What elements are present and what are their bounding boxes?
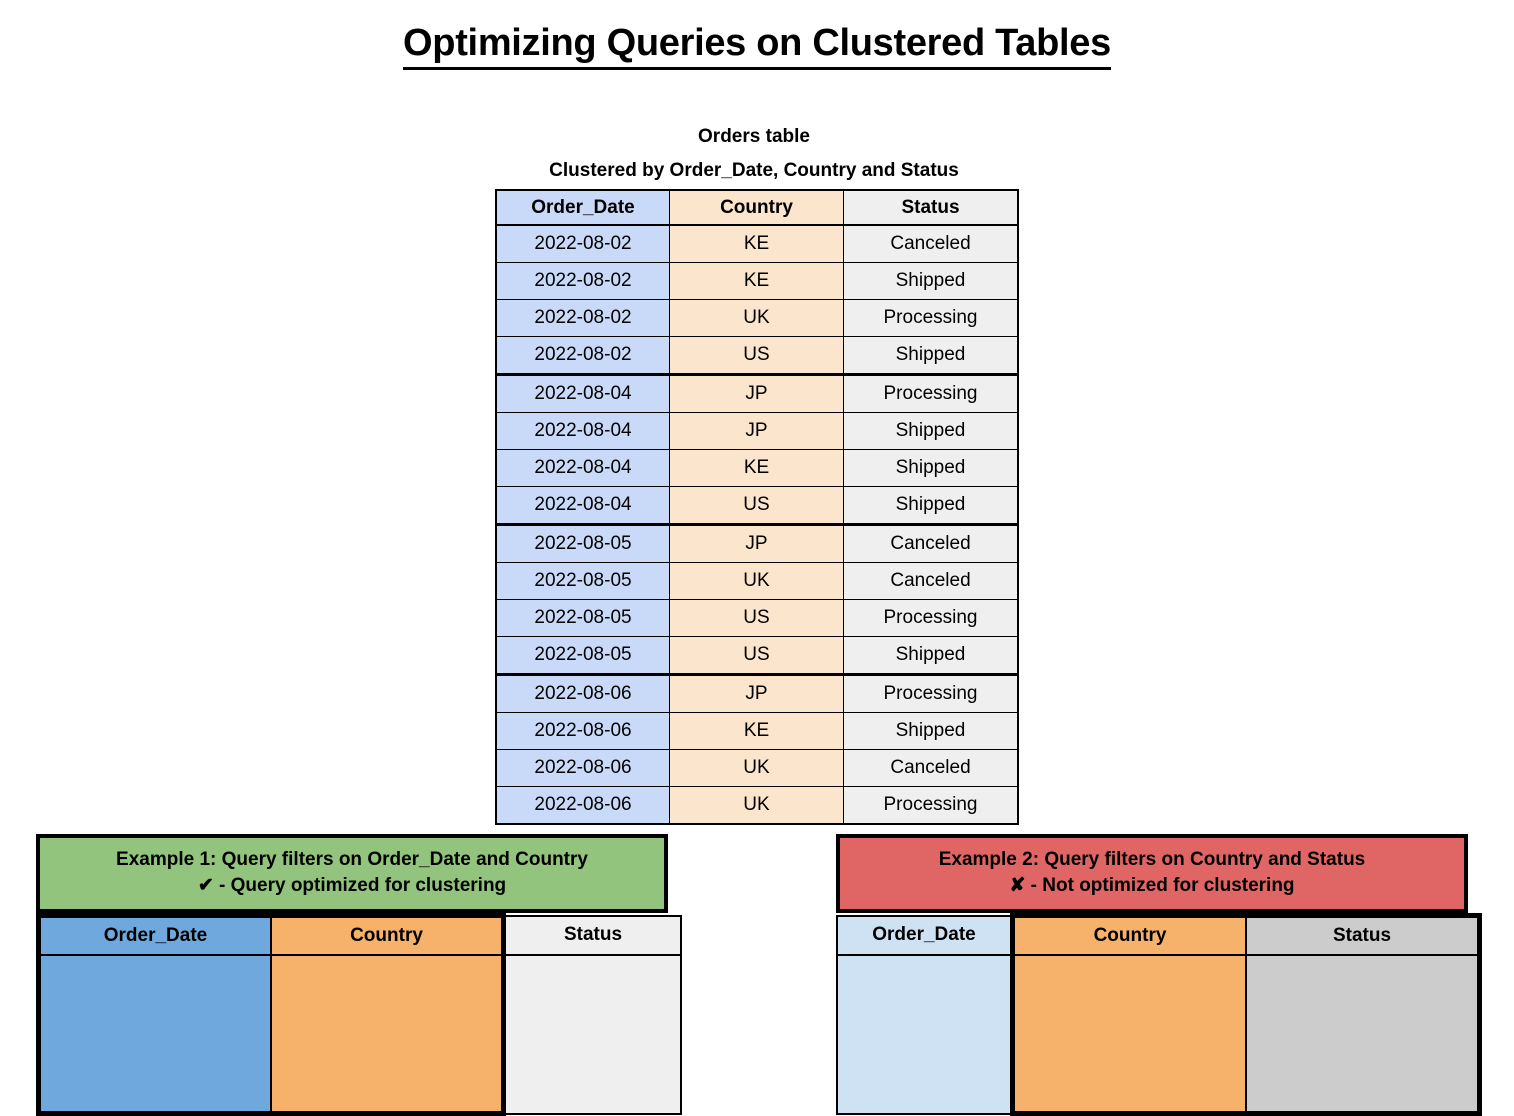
example-1-col-header-status: Status bbox=[504, 916, 682, 956]
cell-order-date: 2022-08-06 bbox=[496, 787, 670, 825]
cell-status: Processing bbox=[844, 300, 1019, 337]
orders-col-header-order-date: Order_Date bbox=[496, 190, 670, 225]
orders-table-head: Order_Date Country Status bbox=[496, 190, 1018, 225]
example-1-col-header-country: Country bbox=[271, 916, 504, 956]
cell-order-date: 2022-08-06 bbox=[496, 750, 670, 787]
cell-order-date: 2022-08-06 bbox=[496, 713, 670, 750]
orders-table: Order_Date Country Status 2022-08-02KECa… bbox=[495, 189, 1019, 825]
example-2-header-line-1: Example 2: Query filters on Country and … bbox=[846, 847, 1458, 873]
example-1-table-head: Order_Date Country Status bbox=[39, 916, 682, 956]
cell-status: Canceled bbox=[844, 225, 1019, 263]
table-row: 2022-08-06JPProcessing bbox=[496, 675, 1018, 713]
page-title-text: Optimizing Queries on Clustered Tables bbox=[403, 22, 1111, 70]
cell-order-date: 2022-08-04 bbox=[496, 450, 670, 487]
table-row: 2022-08-06KEShipped bbox=[496, 713, 1018, 750]
cell-country: JP bbox=[670, 413, 844, 450]
example-2-col-header-order-date: Order_Date bbox=[837, 916, 1013, 956]
table-row: 2022-08-05JPCanceled bbox=[496, 525, 1018, 563]
example-1-table-body bbox=[39, 955, 682, 1114]
table-row: 2022-08-02KECanceled bbox=[496, 225, 1018, 263]
cell-country: KE bbox=[670, 225, 844, 263]
cell-order-date: 2022-08-05 bbox=[496, 525, 670, 563]
cell-status: Processing bbox=[844, 600, 1019, 637]
cell-country: US bbox=[670, 337, 844, 375]
cell-status: Shipped bbox=[844, 413, 1019, 450]
orders-table-header-row: Order_Date Country Status bbox=[496, 190, 1018, 225]
table-row: 2022-08-04KEShipped bbox=[496, 450, 1018, 487]
cell-country: KE bbox=[670, 263, 844, 300]
example-2-header-line-2: ✘ - Not optimized for clustering bbox=[846, 873, 1458, 899]
cell-country: KE bbox=[670, 713, 844, 750]
example-1-header: Example 1: Query filters on Order_Date a… bbox=[36, 834, 668, 913]
cell-country: US bbox=[670, 637, 844, 675]
page-title: Optimizing Queries on Clustered Tables bbox=[0, 22, 1514, 65]
cell-order-date: 2022-08-04 bbox=[496, 487, 670, 525]
orders-col-header-country: Country bbox=[670, 190, 844, 225]
cross-icon: ✘ bbox=[1009, 875, 1025, 896]
example-1-cell-country bbox=[271, 955, 504, 1114]
cell-order-date: 2022-08-05 bbox=[496, 637, 670, 675]
cell-status: Processing bbox=[844, 675, 1019, 713]
table-row: 2022-08-02UKProcessing bbox=[496, 300, 1018, 337]
cell-status: Shipped bbox=[844, 337, 1019, 375]
cell-order-date: 2022-08-05 bbox=[496, 563, 670, 600]
cell-status: Canceled bbox=[844, 563, 1019, 600]
cell-country: UK bbox=[670, 787, 844, 825]
cell-order-date: 2022-08-06 bbox=[496, 675, 670, 713]
cell-order-date: 2022-08-02 bbox=[496, 300, 670, 337]
orders-table-block: Orders table Clustered by Order_Date, Co… bbox=[495, 124, 1013, 825]
cell-order-date: 2022-08-04 bbox=[496, 375, 670, 413]
table-row: 2022-08-05USProcessing bbox=[496, 600, 1018, 637]
cell-status: Processing bbox=[844, 375, 1019, 413]
cell-order-date: 2022-08-02 bbox=[496, 263, 670, 300]
example-1-col-header-order-date: Order_Date bbox=[39, 916, 272, 956]
table-row: 2022-08-02USShipped bbox=[496, 337, 1018, 375]
example-1-body-row bbox=[39, 955, 682, 1114]
cell-country: US bbox=[670, 600, 844, 637]
cell-country: UK bbox=[670, 563, 844, 600]
example-2-cell-status bbox=[1246, 955, 1480, 1114]
example-1-header-line-1: Example 1: Query filters on Order_Date a… bbox=[46, 847, 658, 873]
cell-status: Processing bbox=[844, 787, 1019, 825]
check-icon: ✔ bbox=[198, 875, 214, 896]
orders-table-body: 2022-08-02KECanceled2022-08-02KEShipped2… bbox=[496, 225, 1018, 824]
cell-country: JP bbox=[670, 375, 844, 413]
example-2-verdict: - Not optimized for clustering bbox=[1031, 875, 1295, 896]
cell-order-date: 2022-08-02 bbox=[496, 225, 670, 263]
table-row: 2022-08-05UKCanceled bbox=[496, 563, 1018, 600]
cell-country: KE bbox=[670, 450, 844, 487]
cell-country: UK bbox=[670, 750, 844, 787]
example-2-table-body bbox=[837, 955, 1480, 1114]
example-2-cell-country bbox=[1013, 955, 1247, 1114]
table-row: 2022-08-06UKProcessing bbox=[496, 787, 1018, 825]
table-row: 2022-08-04JPShipped bbox=[496, 413, 1018, 450]
example-1-cell-status bbox=[504, 955, 682, 1114]
example-2-panel: Example 2: Query filters on Country and … bbox=[836, 834, 1468, 1116]
cell-status: Shipped bbox=[844, 450, 1019, 487]
example-1-verdict: - Query optimized for clustering bbox=[219, 875, 506, 896]
cell-status: Canceled bbox=[844, 525, 1019, 563]
cell-status: Shipped bbox=[844, 263, 1019, 300]
cell-order-date: 2022-08-05 bbox=[496, 600, 670, 637]
table-row: 2022-08-05USShipped bbox=[496, 637, 1018, 675]
cell-country: JP bbox=[670, 525, 844, 563]
table-row: 2022-08-02KEShipped bbox=[496, 263, 1018, 300]
example-2-cell-order-date bbox=[837, 955, 1013, 1114]
cell-country: JP bbox=[670, 675, 844, 713]
example-2-body-row bbox=[837, 955, 1480, 1114]
table-row: 2022-08-04JPProcessing bbox=[496, 375, 1018, 413]
example-1-table: Order_Date Country Status bbox=[36, 913, 682, 1116]
example-2-col-header-status: Status bbox=[1246, 916, 1480, 956]
cell-status: Canceled bbox=[844, 750, 1019, 787]
example-2-header: Example 2: Query filters on Country and … bbox=[836, 834, 1468, 913]
cell-order-date: 2022-08-02 bbox=[496, 337, 670, 375]
example-2-header-row: Order_Date Country Status bbox=[837, 916, 1480, 956]
cell-status: Shipped bbox=[844, 487, 1019, 525]
orders-table-subcaption: Clustered by Order_Date, Country and Sta… bbox=[495, 158, 1013, 183]
table-row: 2022-08-06UKCanceled bbox=[496, 750, 1018, 787]
example-1-header-row: Order_Date Country Status bbox=[39, 916, 682, 956]
example-2-table-head: Order_Date Country Status bbox=[837, 916, 1480, 956]
table-row: 2022-08-04USShipped bbox=[496, 487, 1018, 525]
cell-status: Shipped bbox=[844, 713, 1019, 750]
orders-col-header-status: Status bbox=[844, 190, 1019, 225]
cell-country: UK bbox=[670, 300, 844, 337]
example-2-col-header-country: Country bbox=[1013, 916, 1247, 956]
cell-order-date: 2022-08-04 bbox=[496, 413, 670, 450]
cell-country: US bbox=[670, 487, 844, 525]
example-2-table: Order_Date Country Status bbox=[836, 913, 1482, 1116]
example-1-header-line-2: ✔ - Query optimized for clustering bbox=[46, 873, 658, 899]
orders-table-caption: Orders table bbox=[495, 124, 1013, 149]
example-1-panel: Example 1: Query filters on Order_Date a… bbox=[36, 834, 668, 1116]
cell-status: Shipped bbox=[844, 637, 1019, 675]
example-1-cell-order-date bbox=[39, 955, 272, 1114]
